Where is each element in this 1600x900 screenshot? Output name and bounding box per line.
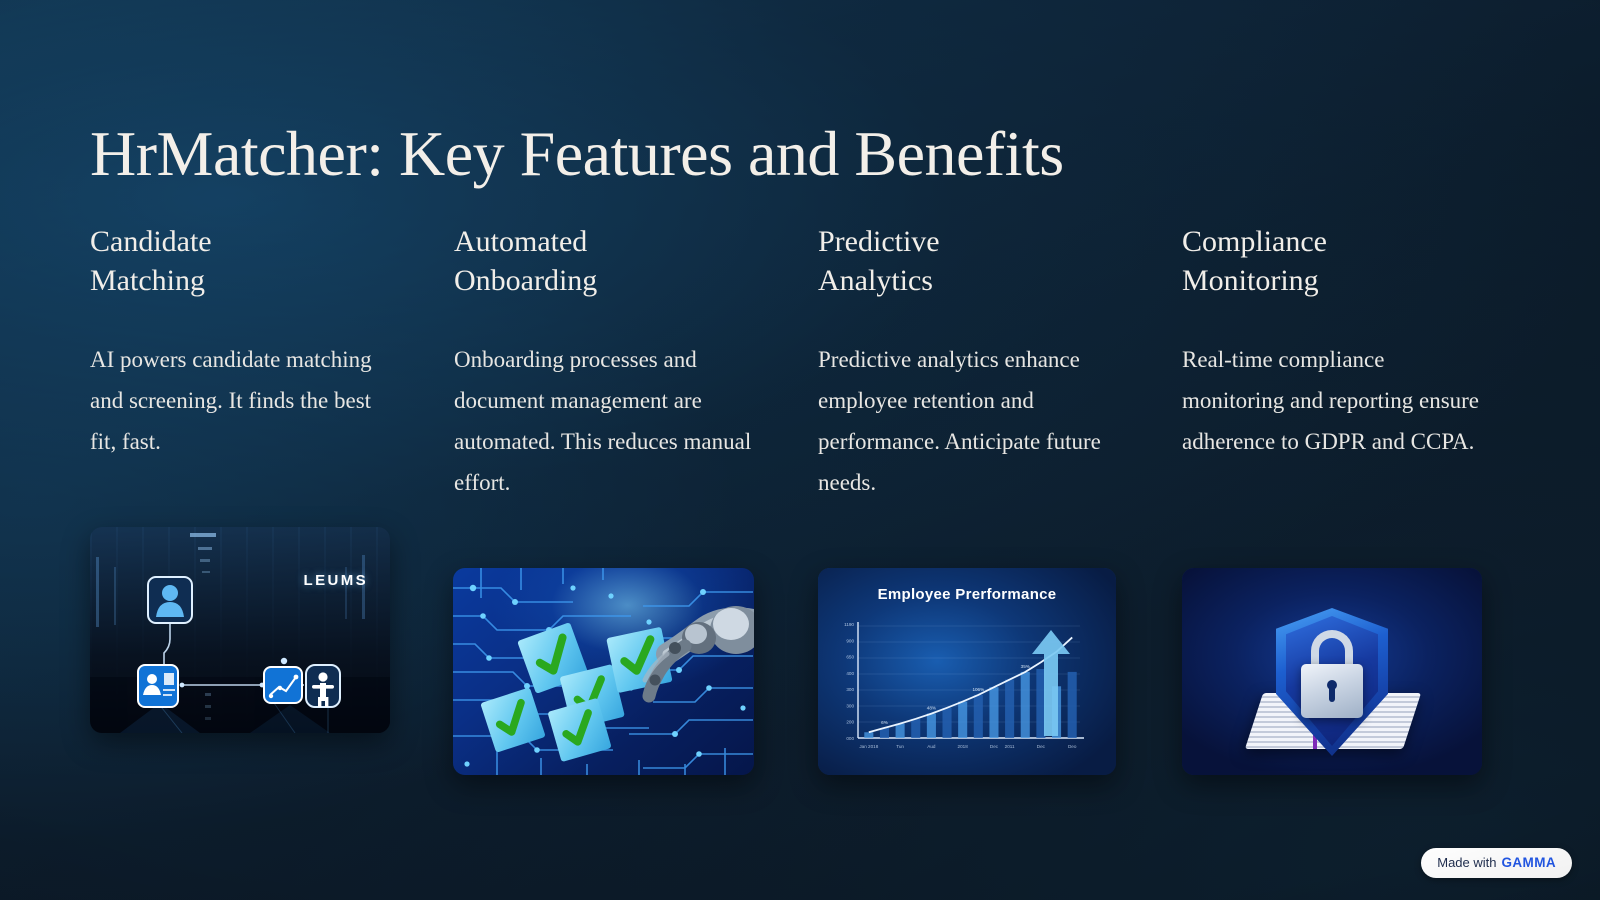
feature-heading: Candidate Matching xyxy=(90,222,320,300)
chart-y-tick-label: 300 xyxy=(846,687,854,692)
chart-x-tick-label: Aud xyxy=(927,744,936,749)
chart-bar xyxy=(974,695,983,738)
automated-onboarding-image xyxy=(453,568,754,775)
chart-x-tick-label: Tun xyxy=(896,744,904,749)
chart-y-tick-label: 900 xyxy=(846,638,854,643)
chart-bar xyxy=(1005,680,1014,738)
chart-bar xyxy=(989,687,998,738)
robot-arm-with-check-cards xyxy=(453,568,754,775)
badge-brand-label: GAMMA xyxy=(1502,855,1557,870)
feature-column-candidate-matching: Candidate Matching AI powers candidate m… xyxy=(90,222,390,504)
chart-x-tick-label: 2011 xyxy=(1005,744,1015,749)
feature-columns: Candidate Matching AI powers candidate m… xyxy=(90,222,1510,504)
chart-x-tick-label: Jan 2018 xyxy=(859,744,878,749)
leums-watermark-label: LEUMS xyxy=(304,572,369,589)
chart-bar xyxy=(896,724,905,738)
chart-data-label: 48% xyxy=(927,706,936,711)
chart-bar xyxy=(1068,672,1077,738)
chart-y-tick-label: 000 xyxy=(846,736,854,741)
chart-data-label: 6% xyxy=(881,720,888,725)
chart-bar xyxy=(927,714,936,738)
chart-y-tick-label: 400 xyxy=(846,671,854,676)
compliance-monitoring-image xyxy=(1182,568,1482,775)
feature-column-compliance-monitoring: Compliance Monitoring Real-time complian… xyxy=(1182,222,1482,504)
predictive-analytics-image: Employee Prerformance 000200300300400650… xyxy=(818,568,1116,775)
chart-x-tick-label: Dec xyxy=(990,744,999,749)
feature-heading: Predictive Analytics xyxy=(818,222,1048,300)
employee-performance-chart: 0002003003004006509001190 Jan 2018TunAud… xyxy=(818,568,1116,775)
feature-heading: Compliance Monitoring xyxy=(1182,222,1412,300)
made-with-gamma-badge[interactable]: Made with GAMMA xyxy=(1421,848,1572,878)
feature-column-automated-onboarding: Automated Onboarding Onboarding processe… xyxy=(454,222,754,504)
chart-data-label: 106% xyxy=(972,687,984,692)
candidate-matching-image: LEUMS xyxy=(90,527,390,733)
feature-body: Real-time compliance monitoring and repo… xyxy=(1182,340,1482,463)
chart-bar xyxy=(958,702,967,738)
page-title: HrMatcher: Key Features and Benefits xyxy=(90,119,1064,189)
network-diagram-icons xyxy=(90,527,390,733)
slide-canvas: HrMatcher: Key Features and Benefits Can… xyxy=(0,0,1600,900)
chart-y-tick-label: 650 xyxy=(846,655,854,660)
chart-y-tick-label: 1190 xyxy=(844,622,854,627)
chart-y-tick-label: 200 xyxy=(846,720,854,725)
chart-bar xyxy=(911,719,920,738)
chart-y-tick-label: 300 xyxy=(846,703,854,708)
feature-heading: Automated Onboarding xyxy=(454,222,684,300)
keyhole-icon xyxy=(1327,680,1337,690)
feature-body: Onboarding processes and document manage… xyxy=(454,340,754,504)
feature-body: AI powers candidate matching and screeni… xyxy=(90,340,390,463)
feature-column-predictive-analytics: Predictive Analytics Predictive analytic… xyxy=(818,222,1118,504)
chart-x-tick-label: Dec xyxy=(1037,744,1046,749)
feature-body: Predictive analytics enhance employee re… xyxy=(818,340,1118,504)
chart-x-tick-label: 2018 xyxy=(958,744,969,749)
chart-data-label: 35% xyxy=(1021,664,1030,669)
chart-bar xyxy=(1021,672,1030,738)
chart-x-tick-label: Deo xyxy=(1068,744,1077,749)
badge-prefix-label: Made with xyxy=(1437,855,1496,870)
chart-bar xyxy=(864,732,873,738)
chart-bar xyxy=(943,708,952,738)
